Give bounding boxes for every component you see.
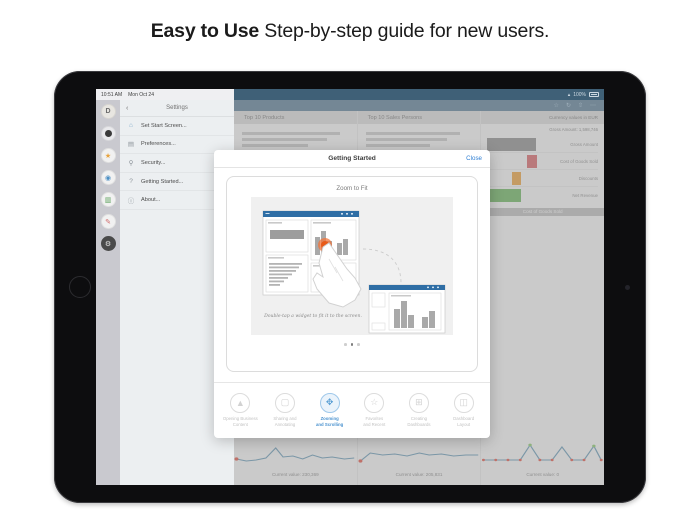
topic-label: Creating Dashboards — [398, 416, 440, 428]
tablet-device: 10:51 AM Mon Oct 24 ▴ 100% D ★ ◉ ▥ ✎ ⚙ ‹… — [54, 71, 646, 503]
topic-creating-dashboards[interactable]: ⊞ Creating Dashboards — [398, 393, 440, 428]
share-layers-icon: ▢ — [275, 393, 295, 413]
slide-dot[interactable] — [357, 343, 360, 346]
topic-opening-business-content[interactable]: ▲ Opening Business Content — [219, 393, 261, 428]
favorite-star-icon: ☆ — [364, 393, 384, 413]
topics-toolbar: ▲ Opening Business Content ▢ Sharing and… — [214, 382, 490, 438]
key-icon: ⚲ — [127, 159, 135, 167]
status-bar: 10:51 AM Mon Oct 24 ▴ 100% — [96, 89, 604, 100]
tablet-screen: 10:51 AM Mon Oct 24 ▴ 100% D ★ ◉ ▥ ✎ ⚙ ‹… — [96, 89, 604, 485]
rail-analytics-icon[interactable]: ▥ — [101, 192, 116, 207]
slide-title: Zoom to Fit — [336, 185, 367, 192]
home-button[interactable] — [69, 276, 91, 298]
menu-item-set-start-screen[interactable]: ⌂ Set Start Screen... — [120, 117, 234, 136]
slide-dot[interactable] — [344, 343, 347, 346]
wifi-icon: ▴ — [568, 92, 571, 98]
slide-card: Zoom to Fit — [226, 176, 478, 372]
help-icon: ? — [127, 178, 135, 186]
topic-label: Sharing and Annotating — [264, 416, 306, 428]
slide-caption: Double-tap a widget to fit it to the scr… — [259, 314, 367, 321]
sliders-icon: ▤ — [127, 140, 135, 148]
zoom-move-icon: ✥ — [320, 393, 340, 413]
status-time: 10:51 AM — [101, 92, 122, 98]
dialog-header: Getting Started Close — [214, 150, 490, 168]
battery-percent: 100% — [573, 92, 586, 98]
rail-browse-icon[interactable]: ◉ — [101, 170, 116, 185]
front-camera-icon — [625, 285, 630, 290]
rail-favorites-icon[interactable]: ★ — [101, 148, 116, 163]
menu-item-label: Set Start Screen... — [141, 123, 187, 129]
close-button[interactable]: Close — [466, 155, 482, 162]
icon-rail: D ★ ◉ ▥ ✎ ⚙ — [96, 100, 120, 485]
rail-settings-icon[interactable]: ⚙ — [101, 236, 116, 251]
settings-title: Settings — [120, 105, 234, 111]
topic-label: Zooming and Scrolling — [309, 416, 351, 428]
page-title-light: Step-by-step guide for new users. — [259, 20, 549, 42]
battery-icon — [589, 92, 599, 97]
slide-dots — [344, 343, 360, 346]
layout-icon: ◫ — [454, 393, 474, 413]
topic-favorites-and-recent[interactable]: ☆ Favorites and Recent — [353, 393, 395, 428]
chart-open-icon: ▲ — [230, 393, 250, 413]
topic-label: Dashboard Layout — [443, 416, 485, 428]
topic-zooming-and-scrolling[interactable]: ✥ Zooming and Scrolling — [309, 393, 351, 428]
dialog-title: Getting Started — [214, 155, 490, 162]
rail-annotate-icon[interactable]: ✎ — [101, 214, 116, 229]
topic-label: Favorites and Recent — [353, 416, 395, 428]
getting-started-dialog: Getting Started Close Zoom to Fit — [214, 150, 490, 438]
page-title-strong: Easy to Use — [151, 20, 259, 42]
topic-dashboard-layout[interactable]: ◫ Dashboard Layout — [443, 393, 485, 428]
status-date: Mon Oct 24 — [128, 92, 154, 98]
page-title: Easy to Use Step-by-step guide for new u… — [0, 20, 700, 43]
status-bar-right: ▴ 100% — [234, 89, 604, 100]
menu-item-label: Security... — [141, 160, 165, 166]
avatar[interactable]: D — [101, 104, 116, 119]
home-icon: ⌂ — [127, 122, 135, 130]
status-bar-left: 10:51 AM Mon Oct 24 — [96, 89, 234, 100]
topic-sharing-and-annotating[interactable]: ▢ Sharing and Annotating — [264, 393, 306, 428]
info-icon: ⓘ — [127, 196, 135, 204]
menu-item-label: Getting Started... — [141, 179, 183, 185]
menu-item-label: About... — [141, 197, 160, 203]
topic-label: Opening Business Content — [219, 416, 261, 428]
add-board-icon: ⊞ — [409, 393, 429, 413]
menu-item-label: Preferences... — [141, 141, 176, 147]
zoom-to-fit-illustration: Double-tap a widget to fit it to the scr… — [251, 197, 453, 335]
slide-dot-active[interactable] — [351, 343, 354, 346]
rail-home-icon[interactable] — [101, 126, 116, 141]
dialog-body: Zoom to Fit — [214, 168, 490, 380]
settings-header: ‹ Settings — [120, 100, 234, 117]
